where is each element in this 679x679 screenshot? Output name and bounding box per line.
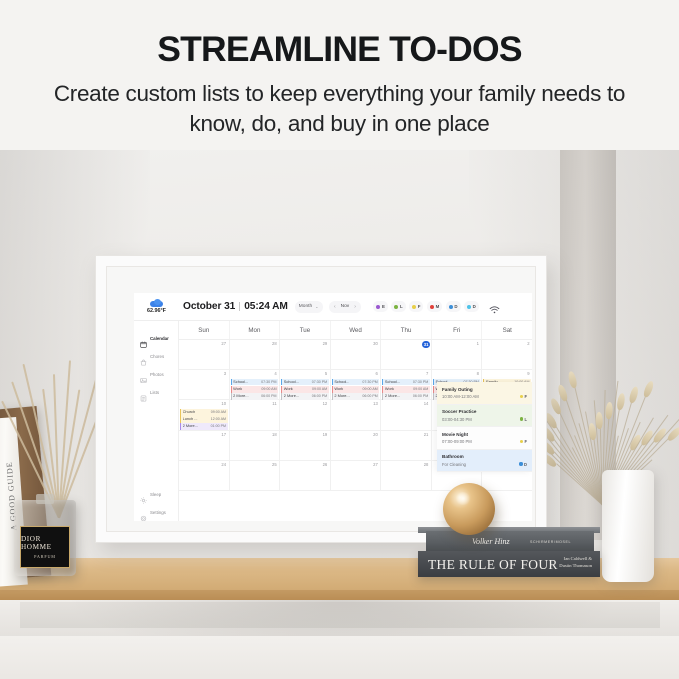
- pampas-puff: [557, 384, 569, 402]
- event-time: 09:00 AM: [363, 386, 378, 393]
- member-chip-f-2[interactable]: F: [409, 301, 423, 312]
- member-color-dot: [449, 305, 453, 309]
- calendar-day-cell[interactable]: 6School...07:30 PMWork09:00 AM2 More...0…: [331, 370, 382, 399]
- agenda-item-text: BathroomFor Cleaning: [442, 454, 466, 467]
- event-time: 06:00 PM: [261, 393, 276, 400]
- event-time: 09:00 AM: [312, 386, 327, 393]
- diffuser-label: DIOR HOMME PARFUM: [20, 526, 70, 568]
- calendar-day-cell[interactable]: 24: [179, 461, 230, 490]
- sun-icon: [140, 491, 147, 498]
- day-events: School...07:30 PMWork09:00 AM2 More...06…: [230, 371, 280, 400]
- day-events: [432, 341, 482, 348]
- date-number: 10: [221, 401, 226, 406]
- view-selector-dropdown[interactable]: Month ⌄: [295, 301, 323, 313]
- sidebar-item-chores[interactable]: Chores: [134, 347, 178, 365]
- calendar-day-cell[interactable]: 29: [280, 340, 331, 369]
- agenda-item-title: Soccer Practice: [442, 409, 476, 414]
- date-number: 11: [272, 401, 276, 406]
- event-title: 2 More...: [183, 423, 198, 430]
- calendar-event[interactable]: 2 More...06:00 PM: [332, 393, 380, 400]
- date-number: 3: [224, 371, 226, 376]
- day-header-thu: Thu: [381, 321, 432, 339]
- member-initial: L: [400, 304, 403, 309]
- calendar-day-cell[interactable]: 13: [331, 400, 382, 429]
- member-chip-e-0[interactable]: E: [373, 301, 388, 312]
- member-color-dot: [430, 305, 434, 309]
- calendar-day-cell[interactable]: 1: [432, 340, 483, 369]
- member-chip-d-4[interactable]: D: [446, 301, 461, 312]
- sidebar-item-settings[interactable]: Settings: [134, 503, 178, 521]
- owner-initial: D: [524, 462, 527, 467]
- calendar-event[interactable]: School...07:30 PM: [231, 379, 279, 386]
- agenda-item-text: Family Outing10:00 AM-12:00 AM: [442, 387, 479, 400]
- sidebar-item-label: Calendar: [150, 336, 169, 341]
- owner-initial: L: [524, 417, 527, 422]
- event-time: 07:30 PM: [362, 379, 377, 386]
- event-title: School...: [284, 379, 299, 386]
- weather-widget[interactable]: 62.96°F: [134, 293, 179, 321]
- page-title: STREAMLINE TO-DOS: [0, 29, 679, 70]
- date-number: 28: [424, 462, 429, 467]
- date-number: 9: [527, 371, 529, 376]
- event-time: 06:00 PM: [413, 393, 428, 400]
- agenda-item[interactable]: Family Outing10:00 AM-12:00 AMF: [437, 382, 532, 405]
- sidebar: CalendarChoresPhotosListsSleepSettings: [134, 321, 179, 521]
- temperature-label: 62.96°F: [147, 308, 166, 314]
- calendar-day-cell[interactable]: 21: [381, 431, 432, 460]
- calendar-icon: [140, 335, 147, 342]
- member-chip-d-5[interactable]: D: [464, 301, 479, 312]
- pampas-puff: [628, 386, 639, 404]
- calendar-day-cell[interactable]: 20: [331, 431, 382, 460]
- calendar-day-cell[interactable]: 19: [280, 431, 331, 460]
- agenda-item-time: 07:00-09:00 PM: [442, 439, 472, 444]
- reed-diffuser-bottle: DIOR HOMME PARFUM: [14, 500, 76, 576]
- calendar-day-cell[interactable]: 25: [230, 461, 281, 490]
- sidebar-item-label: Chores: [150, 354, 164, 359]
- event-time: 07:30 PM: [413, 379, 428, 386]
- event-title: 2 More...: [284, 393, 299, 400]
- event-time: 12:00 AM: [211, 416, 226, 423]
- event-time: 01:00 PM: [211, 423, 226, 430]
- calendar-event[interactable]: Work09:00 AM: [231, 386, 279, 393]
- date-number: 1: [477, 341, 479, 346]
- day-events: [482, 341, 532, 348]
- event-title: School...: [233, 379, 248, 386]
- month-navigator[interactable]: ‹ Nov ›: [329, 301, 362, 313]
- day-events: School...07:30 PMWork09:00 AM2 More...06…: [280, 371, 330, 400]
- calendar-event[interactable]: 2 More...01:00 PM: [180, 423, 228, 430]
- date-number: 27: [221, 341, 226, 346]
- agenda-item-owner: F: [520, 394, 527, 399]
- calendar-day-cell[interactable]: 31: [381, 340, 432, 369]
- agenda-item[interactable]: BathroomFor CleaningD: [437, 450, 532, 473]
- agenda-item-text: Movie Night07:00-09:00 PM: [442, 432, 472, 445]
- calendar-day-cell[interactable]: 11: [230, 400, 281, 429]
- date-number: 18: [272, 432, 277, 437]
- agenda-item-title: Bathroom: [442, 454, 466, 459]
- product-lifestyle-image: STREAMLINE TO-DOS Create custom lists to…: [0, 0, 679, 679]
- member-chip-l-1[interactable]: L: [391, 301, 405, 312]
- agenda-item-time: 10:00 AM-12:00 AM: [442, 394, 479, 399]
- sidebar-item-label: Photos: [150, 372, 164, 377]
- view-selector-label: Month: [299, 304, 312, 309]
- calendar-day-cell[interactable]: 14: [381, 400, 432, 429]
- event-time: 09:00 AM: [413, 386, 428, 393]
- agenda-item-time: 03:00-04:30 PM: [442, 417, 476, 422]
- member-initial: E: [382, 304, 385, 309]
- event-title: 2 More...: [334, 393, 349, 400]
- calendar-day-cell[interactable]: 28: [230, 340, 281, 369]
- calendar-event[interactable]: Work09:00 AM: [382, 386, 430, 393]
- diffuser-sub: PARFUM: [34, 554, 56, 559]
- book-bottom-authors: Ian Caldwell &Dustin Thomason: [559, 556, 592, 570]
- calendar-event[interactable]: Church09:00 AM: [180, 409, 228, 416]
- agenda-item[interactable]: Movie Night07:00-09:00 PMF: [437, 427, 532, 450]
- event-title: Work: [385, 386, 394, 393]
- member-color-dot: [467, 305, 471, 309]
- sidebar-item-label: Sleep: [150, 492, 161, 497]
- member-initial: D: [454, 304, 457, 309]
- owner-color-dot: [520, 417, 523, 420]
- white-vase: [602, 470, 654, 582]
- event-title: 2 More...: [385, 393, 400, 400]
- month-nav-label: Nov: [338, 304, 352, 309]
- app-toolbar: 62.96°F October 31 05:24 AM Month ⌄ ‹ No…: [134, 293, 532, 321]
- author-line: Dustin Thomason: [559, 563, 592, 570]
- day-of-week-header: SunMonTueWedThuFriSat: [179, 321, 532, 340]
- event-title: Work: [233, 386, 242, 393]
- sidebar-item-photos[interactable]: Photos: [134, 365, 178, 383]
- basket-icon: [140, 353, 147, 360]
- date-number: 27: [373, 462, 378, 467]
- date-number: 6: [375, 371, 377, 376]
- today-date-badge: 31: [422, 341, 430, 349]
- calendar-event[interactable]: 2 More...06:00 PM: [281, 393, 329, 400]
- day-header-wed: Wed: [331, 321, 382, 339]
- date-number: 8: [477, 371, 479, 376]
- current-time: 05:24 AM: [244, 301, 288, 312]
- member-color-dot: [376, 305, 380, 309]
- decorative-gold-ball: [443, 483, 495, 535]
- calendar-event[interactable]: School...07:30 PM: [382, 379, 430, 386]
- calendar-event[interactable]: School...07:30 PM: [281, 379, 329, 386]
- owner-initial: F: [524, 394, 527, 399]
- agenda-item-title: Movie Night: [442, 432, 472, 437]
- book-rule-of-four: THE RULE OF FOUR Ian Caldwell &Dustin Th…: [418, 551, 600, 577]
- chevron-down-icon: ⌄: [315, 304, 318, 309]
- event-title: School...: [385, 379, 400, 386]
- calendar-day-cell[interactable]: 7School...07:30 PMWork09:00 AM2 More...0…: [381, 370, 432, 399]
- gear-icon: [140, 509, 147, 516]
- date-number: 12: [323, 401, 328, 406]
- gold-ball-highlight: [455, 492, 471, 505]
- floor: [0, 636, 679, 679]
- diffuser-neck: [36, 494, 54, 504]
- agenda-item-text: Soccer Practice03:00-04:30 PM: [442, 409, 476, 422]
- agenda-item-owner: D: [519, 462, 527, 467]
- member-chip-m-3[interactable]: M: [427, 301, 442, 312]
- sidebar-item-label: Lists: [150, 390, 159, 395]
- calendar-day-cell[interactable]: 5School...07:30 PMWork09:00 AM2 More...0…: [280, 370, 331, 399]
- calendar-event[interactable]: Work09:00 AM: [281, 386, 329, 393]
- event-time: 06:00 PM: [312, 393, 327, 400]
- calendar-week-row: 272829303112: [179, 340, 532, 370]
- date-number: 7: [426, 371, 428, 376]
- day-header-sun: Sun: [179, 321, 230, 339]
- cloud-icon: [150, 299, 163, 307]
- list-icon: [140, 389, 147, 396]
- calendar-day-cell[interactable]: 30: [331, 340, 382, 369]
- event-title: School...: [334, 379, 349, 386]
- wifi-icon[interactable]: [489, 302, 500, 312]
- sidebar-item-lists[interactable]: Lists: [134, 383, 178, 401]
- book-top-publisher: SCHIRMER/MOSEL: [530, 540, 571, 544]
- day-events: School...07:30 PMWork09:00 AM2 More...06…: [331, 371, 381, 400]
- author-line: Ian Caldwell &: [559, 556, 592, 563]
- date-number: 5: [325, 371, 327, 376]
- date-number: 17: [221, 432, 226, 437]
- book-bottom-title: THE RULE OF FOUR: [428, 557, 558, 573]
- date-number: 29: [323, 341, 328, 346]
- agenda-item-owner: F: [520, 439, 527, 444]
- member-initial: D: [473, 304, 476, 309]
- member-initial: M: [436, 304, 440, 309]
- calendar-day-cell[interactable]: 28: [381, 461, 432, 490]
- datetime-divider: [239, 302, 240, 311]
- day-header-tue: Tue: [280, 321, 331, 339]
- agenda-item-title: Family Outing: [442, 387, 479, 392]
- day-header-sat: Sat: [482, 321, 532, 339]
- member-filter-chips: ELFMDD: [373, 301, 478, 312]
- calendar-day-cell[interactable]: 2: [482, 340, 532, 369]
- event-time: 07:30 PM: [261, 379, 276, 386]
- date-number: 4: [274, 371, 276, 376]
- sidebar-item-calendar[interactable]: Calendar: [134, 329, 178, 347]
- event-title: Church: [183, 409, 196, 416]
- datetime-display: October 31 05:24 AM: [183, 301, 288, 312]
- date-number: 30: [373, 341, 378, 346]
- calendar-day-cell[interactable]: 3: [179, 370, 230, 399]
- event-title: Work: [334, 386, 343, 393]
- date-number: 2: [527, 341, 529, 346]
- sidebar-item-sleep[interactable]: Sleep: [134, 485, 178, 503]
- member-color-dot: [412, 305, 416, 309]
- calendar-event[interactable]: 2 More...06:00 PM: [231, 393, 279, 400]
- date-number: 24: [221, 462, 226, 467]
- event-title: Work: [284, 386, 293, 393]
- calendar-event[interactable]: School...07:30 PM: [332, 379, 380, 386]
- day-events: [179, 371, 229, 378]
- agenda-item-time: For Cleaning: [442, 462, 466, 467]
- pampas-puff: [642, 380, 655, 398]
- sidebar-item-label: Settings: [150, 510, 166, 515]
- date-number: 21: [424, 432, 429, 437]
- date-number: 26: [323, 462, 328, 467]
- sidebar-spacer: [134, 401, 178, 485]
- event-title: Lunch ...: [183, 416, 198, 423]
- event-time: 09:00 AM: [261, 386, 276, 393]
- date-number: 13: [373, 401, 378, 406]
- owner-initial: F: [524, 439, 527, 444]
- date-number: 28: [272, 341, 277, 346]
- agenda-panel[interactable]: Family Outing10:00 AM-12:00 AMFSoccer Pr…: [437, 382, 532, 472]
- photo-icon: [140, 371, 147, 378]
- calendar-day-cell[interactable]: 4School...07:30 PMWork09:00 AM2 More...0…: [230, 370, 281, 399]
- book-top-title: Volker Hinz: [472, 537, 510, 546]
- pampas-puff: [549, 398, 562, 416]
- date-number: 25: [272, 462, 277, 467]
- calendar-event[interactable]: 2 More...06:00 PM: [382, 393, 430, 400]
- pampas-puff: [567, 371, 578, 389]
- date-number: 20: [373, 432, 378, 437]
- owner-color-dot: [520, 440, 523, 443]
- calendar-day-cell[interactable]: 27: [179, 340, 230, 369]
- event-time: 06:00 PM: [362, 393, 377, 400]
- current-date: October 31: [183, 301, 235, 312]
- member-initial: F: [418, 304, 421, 309]
- book-volker-hinz: Volker Hinz SCHIRMER/MOSEL: [426, 531, 594, 553]
- event-title: 2 More...: [233, 393, 248, 400]
- date-number: 19: [323, 432, 328, 437]
- calendar-day-cell[interactable]: 26: [280, 461, 331, 490]
- member-color-dot: [394, 305, 398, 309]
- pampas-puff: [616, 393, 626, 411]
- calendar-day-cell[interactable]: 18: [230, 431, 281, 460]
- calendar-event[interactable]: Work09:00 AM: [332, 386, 380, 393]
- agenda-item-owner: L: [520, 417, 527, 422]
- chevron-right-icon[interactable]: ›: [352, 304, 359, 310]
- chevron-left-icon[interactable]: ‹: [332, 304, 339, 310]
- calendar-day-cell[interactable]: 10Church09:00 AMLunch ...12:00 AM2 More.…: [179, 400, 230, 429]
- calendar-day-cell[interactable]: 27: [331, 461, 382, 490]
- reed-sticks: [16, 368, 106, 518]
- event-time: 09:00 AM: [211, 409, 226, 416]
- calendar-day-cell[interactable]: 12: [280, 400, 331, 429]
- diffuser-brand: DIOR HOMME: [21, 535, 69, 551]
- event-time: 07:30 PM: [312, 379, 327, 386]
- calendar-event[interactable]: Lunch ...12:00 AM: [180, 416, 228, 423]
- calendar-day-cell[interactable]: 17: [179, 431, 230, 460]
- agenda-item[interactable]: Soccer Practice03:00-04:30 PML: [437, 405, 532, 428]
- page-subtitle: Create custom lists to keep everything y…: [0, 79, 679, 138]
- owner-color-dot: [520, 395, 523, 398]
- day-events: School...07:30 PMWork09:00 AM2 More...06…: [381, 371, 431, 400]
- day-header-mon: Mon: [230, 321, 281, 339]
- date-number: 14: [424, 401, 429, 406]
- day-header-fri: Fri: [432, 321, 483, 339]
- owner-color-dot: [519, 462, 522, 465]
- pampas-puff: [596, 412, 603, 429]
